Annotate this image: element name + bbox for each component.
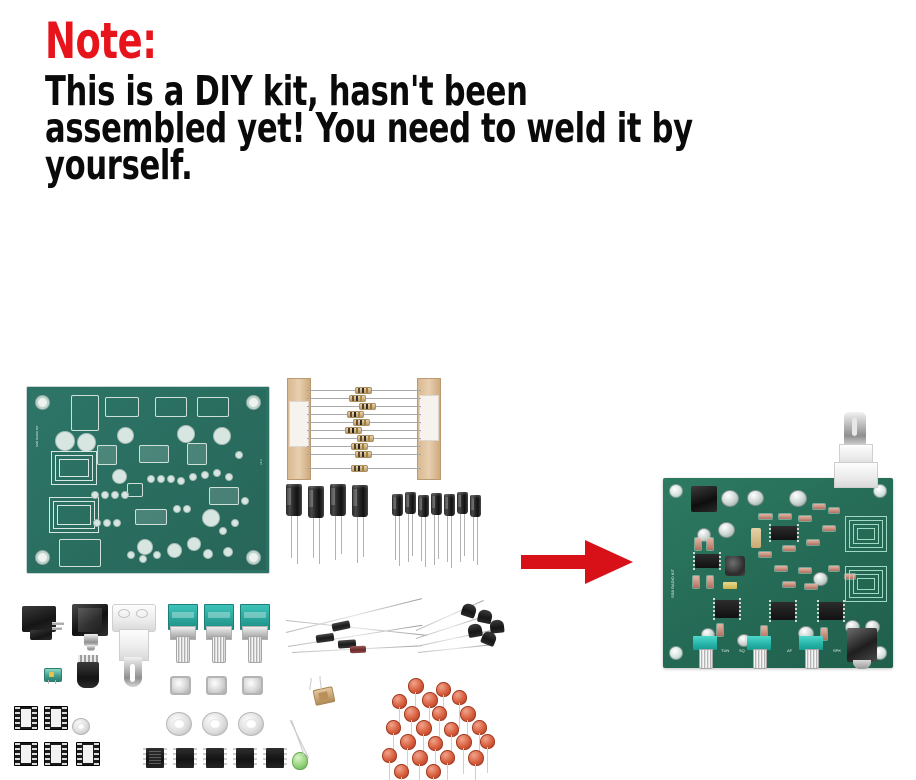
resistor-tape	[287, 378, 441, 478]
pcb-dip-footprint	[209, 487, 239, 505]
transistors-group	[416, 600, 512, 664]
board-silkscreen: SSB RADIO KIT	[670, 569, 675, 598]
potentiometer-nut	[242, 676, 263, 695]
integrated-circuit	[176, 748, 194, 768]
tuning-potentiometer[interactable]	[693, 636, 717, 666]
integrated-circuit	[771, 526, 797, 540]
pcb-pad	[225, 473, 233, 481]
ic-socket	[76, 742, 100, 766]
pcb-pad	[213, 427, 231, 445]
integrated-circuit	[695, 554, 719, 568]
pcb-pad	[127, 551, 135, 559]
potentiometer	[168, 604, 196, 660]
pcb-mounting-hole	[35, 550, 50, 565]
pcb-pad	[235, 451, 243, 459]
note-heading: Note:	[45, 14, 726, 68]
diode	[331, 620, 350, 632]
pcb-footprint	[127, 483, 143, 497]
integrated-circuit	[819, 602, 843, 620]
capacitor	[718, 522, 735, 538]
note-block: Note: This is a DIY kit, hasn't been ass…	[45, 14, 875, 185]
integrated-circuit	[715, 600, 739, 618]
potentiometer-washer	[202, 712, 228, 736]
pcb-footprint	[197, 397, 229, 417]
pcb-footprint	[59, 539, 101, 567]
pcb-pad	[121, 491, 129, 499]
pcb-pad	[139, 555, 147, 563]
pcb-pad	[177, 425, 195, 443]
potentiometer-nut	[170, 676, 191, 695]
bare-pcb: SSB RADIO KIT v4.3	[26, 386, 270, 574]
spiral-coil	[857, 528, 875, 540]
pcb-pad	[203, 549, 213, 559]
note-line-3: yourself.	[45, 148, 734, 183]
pcb-silkscreen-text: v4.3	[259, 459, 263, 465]
pcb-pad	[101, 491, 109, 499]
potentiometer	[240, 604, 268, 660]
integrated-circuit	[206, 748, 224, 768]
pcb-footprint	[105, 397, 139, 417]
label-tun: TUN	[721, 648, 729, 653]
pcb-pad	[117, 427, 134, 444]
pcb-pad	[231, 519, 239, 527]
pcb-footprint	[155, 397, 187, 417]
pcb-pad	[91, 491, 99, 499]
pcb-footprint	[71, 395, 99, 431]
film-capacitor	[751, 528, 761, 548]
integrated-circuit	[146, 748, 164, 768]
resistor-tape-strip	[287, 378, 311, 480]
dc-power-jack	[691, 486, 717, 512]
tape-label	[419, 395, 439, 441]
pcb-silkscreen-text: SSB RADIO KIT	[35, 425, 39, 447]
pcb-pad	[153, 551, 161, 559]
pcb-pad	[183, 505, 191, 513]
ic-socket	[14, 706, 38, 730]
pcb-mounting-hole	[246, 550, 261, 565]
pcb-dip-footprint	[135, 509, 167, 525]
pcb-pad	[213, 469, 221, 477]
integrated-circuit	[236, 748, 254, 768]
pcb-pad	[113, 519, 121, 527]
bnc-antenna-connector-assembled[interactable]	[834, 412, 880, 484]
pcb-pad	[103, 519, 111, 527]
pcb-pad	[223, 547, 233, 557]
pcb-pad	[201, 471, 209, 479]
pcb-coil-footprint	[59, 459, 89, 477]
resistor-tape-strip	[417, 378, 441, 480]
pcb-pad	[189, 473, 197, 481]
diode	[316, 633, 335, 643]
capacitor	[747, 490, 764, 506]
pcb-pad	[167, 475, 175, 483]
transistor	[489, 619, 504, 633]
pcb-pad	[219, 527, 227, 535]
electrolytic-capacitors-small	[392, 492, 476, 578]
audio-plug	[76, 655, 100, 693]
film-capacitor	[723, 582, 737, 589]
product-image-canvas: Note: This is a DIY kit, hasn't been ass…	[0, 0, 916, 780]
crystal	[44, 668, 60, 684]
ic-socket	[44, 742, 68, 766]
potentiometer	[204, 604, 232, 660]
label-spk: SPK	[833, 648, 841, 653]
pcb-pad	[173, 505, 181, 513]
pcb-pad	[157, 475, 165, 483]
trimmer-capacitor	[725, 556, 745, 576]
dc-power-jack	[22, 606, 66, 646]
af-gain-potentiometer[interactable]	[799, 636, 823, 666]
squelch-potentiometer[interactable]	[747, 636, 771, 666]
pcb-dip-footprint	[139, 445, 169, 463]
transistor	[467, 623, 483, 638]
pcb-pad	[147, 475, 155, 483]
pcb-mounting-hole	[246, 395, 261, 410]
integrated-circuit	[266, 748, 284, 768]
pcb-coil-footprint	[57, 505, 91, 525]
bnc-antenna-connector	[112, 604, 156, 694]
pcb-dip-footprint	[187, 443, 207, 465]
pcb-pad	[241, 497, 249, 505]
potentiometer-nut	[206, 676, 227, 695]
ic-socket	[14, 742, 38, 766]
small-washer	[72, 718, 90, 735]
transformation-arrow	[521, 538, 633, 586]
electrolytic-capacitors-large	[286, 484, 366, 574]
diode	[350, 646, 366, 654]
diodes-group	[286, 600, 426, 660]
ceramic-disc-capacitors	[374, 676, 504, 780]
pcb-pad	[77, 433, 96, 452]
mounting-hole	[669, 646, 683, 660]
pcb-pad	[93, 519, 101, 527]
integrated-circuit	[771, 602, 795, 620]
capacitor	[721, 490, 739, 507]
capacitor	[789, 490, 807, 507]
audio-jack	[72, 604, 112, 660]
pcb-pad	[137, 539, 153, 555]
ic-socket	[44, 706, 68, 730]
pcb-dip-footprint	[97, 445, 117, 465]
label-af: AF	[787, 648, 792, 653]
assembled-pcb: SSB RADIO KIT	[663, 478, 893, 668]
spiral-coil	[857, 578, 875, 590]
pcb-mounting-hole	[35, 395, 50, 410]
pcb-pad	[177, 477, 185, 485]
pcb-pad	[112, 469, 127, 484]
note-body: This is a DIY kit, hasn't been assembled…	[45, 74, 875, 183]
speaker-jack[interactable]	[847, 628, 877, 662]
mounting-hole	[669, 484, 683, 498]
trimmer-potentiometer	[313, 686, 336, 706]
pcb-pad	[167, 543, 182, 558]
pcb-pad	[202, 509, 220, 527]
pcb-pad	[187, 537, 201, 551]
trimmer-lead	[309, 678, 312, 690]
label-sq: SQ	[739, 648, 745, 653]
tape-label	[289, 401, 309, 447]
pcb-pad	[111, 491, 119, 499]
potentiometer-washer	[166, 712, 192, 736]
potentiometer-washer	[238, 712, 264, 736]
pcb-pad	[55, 431, 75, 451]
speaker-jack-barrel	[853, 660, 871, 669]
trimmer-lead	[319, 676, 321, 690]
